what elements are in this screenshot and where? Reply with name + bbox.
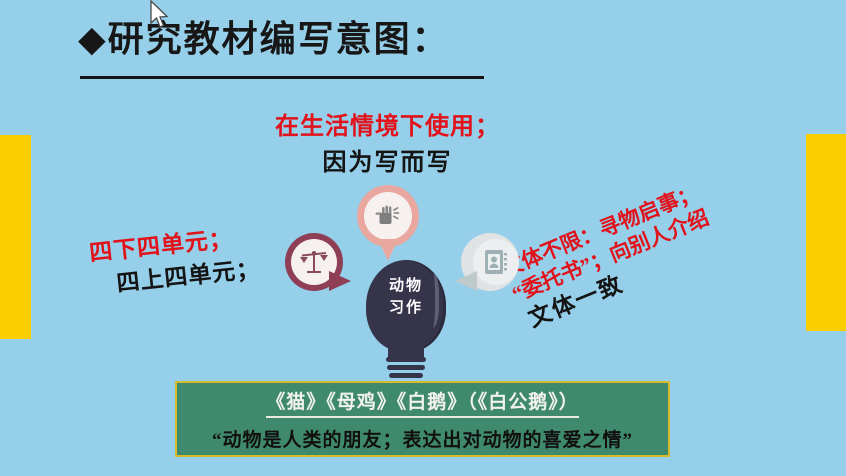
annotation-top-red: 在生活情境下使用；: [275, 114, 500, 140]
summary-box: 《猫》《母鸡》《白鹅》（《白公鹅》） “动物是人类的朋友；表达出对动物的喜爱之情…: [175, 381, 670, 457]
pin-marker-top: [357, 185, 419, 263]
pin-inner-right: [473, 239, 519, 285]
lightbulb-label-line1: 动物: [360, 276, 452, 298]
summary-box-titles: 《猫》《母鸡》《白鹅》（《白公鹅》）: [266, 387, 579, 418]
summary-box-quote: “动物是人类的朋友；表达出对动物的喜爱之情”: [212, 425, 633, 452]
pin-head-top: [357, 185, 419, 247]
lightbulb-icon: 动物 习作: [360, 260, 452, 400]
lightbulb-infographic: 动物 习作: [265, 185, 545, 400]
slide-title-block: ◆研究教材编写意图：: [78, 20, 450, 60]
lightbulb-label-line2: 习作: [360, 298, 452, 320]
title-underline: [80, 76, 484, 79]
pin-marker-left: [285, 233, 347, 295]
presentation-slide: ◆研究教材编写意图： 在生活情境下使用； 因为写而写 四下四单元； 四上四单元；…: [0, 0, 846, 476]
pin-tail-top: [378, 239, 398, 261]
decorative-bar-left: [0, 135, 31, 339]
annotation-top-black: 因为写而写: [275, 148, 500, 178]
page-title: ◆研究教材编写意图：: [78, 20, 450, 60]
pin-tail-right: [455, 271, 477, 291]
annotation-top: 在生活情境下使用； 因为写而写: [275, 112, 500, 178]
balance-scale-icon: [299, 248, 329, 276]
fist-megaphone-icon: [373, 201, 403, 231]
decorative-bar-right: [806, 134, 846, 331]
annotation-left: 四下四单元； 四上四单元；: [88, 222, 262, 301]
address-book-icon: [482, 247, 510, 277]
pin-inner-top: [364, 192, 412, 240]
lightbulb-label: 动物 习作: [360, 276, 452, 320]
pin-marker-right: [455, 233, 521, 295]
pin-tail-left: [329, 271, 351, 291]
